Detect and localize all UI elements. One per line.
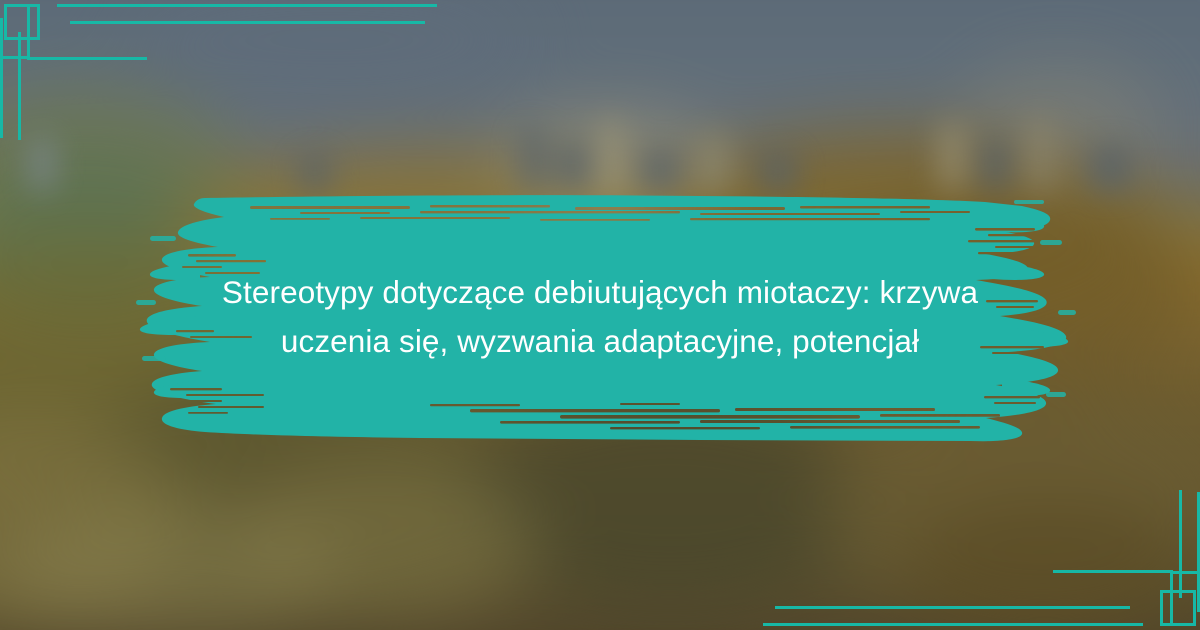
corner-line [1170,570,1173,626]
page-title: Stereotypy dotyczące debiutujących miota… [0,268,1200,366]
corner-line [1170,571,1200,574]
corner-line [0,56,30,59]
headline-line-2: uczenia się, wyzwania adaptacyjne, poten… [140,317,1060,366]
corner-line [57,4,437,7]
social-card: Stereotypy dotyczące debiutujących miota… [0,0,1200,630]
corner-line [27,57,147,60]
corner-line [763,623,1143,626]
corner-line [27,4,30,60]
corner-line [1053,570,1173,573]
headline-line-1: Stereotypy dotyczące debiutujących miota… [140,268,1060,317]
corner-line [1179,490,1182,598]
corner-line [0,18,3,138]
corner-line [775,606,1130,609]
corner-square-icon [1160,590,1196,626]
corner-line [18,32,21,140]
corner-square-icon [4,4,40,40]
corner-line [70,21,425,24]
